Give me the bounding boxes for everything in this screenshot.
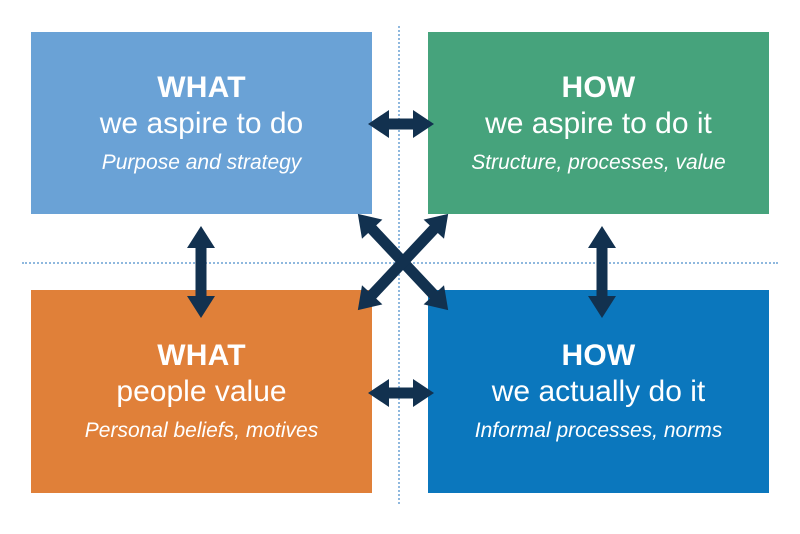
quadrant-kicker: HOW	[562, 339, 636, 373]
quadrant-kicker: WHAT	[157, 339, 246, 373]
dotted-guide-horizontal	[22, 262, 778, 264]
quadrant-actual-how[interactable]: HOW we actually do it Informal processes…	[428, 290, 769, 493]
quadrant-actual-what[interactable]: WHAT people value Personal beliefs, moti…	[31, 290, 372, 493]
quadrant-kicker: WHAT	[157, 71, 246, 105]
quadrant-aspired-what[interactable]: WHAT we aspire to do Purpose and strateg…	[31, 32, 372, 214]
quadrant-aspired-how[interactable]: HOW we aspire to do it Structure, proces…	[428, 32, 769, 214]
double-arrow-horizontal-bottom	[368, 379, 434, 407]
quadrant-caption: Informal processes, norms	[475, 418, 722, 443]
quadrant-kicker: HOW	[562, 71, 636, 105]
double-arrow-horizontal-top	[368, 110, 434, 138]
quadrant-diagram: WHAT we aspire to do Purpose and strateg…	[0, 0, 800, 534]
quadrant-caption: Structure, processes, value	[471, 150, 725, 175]
quadrant-headline: we aspire to do it	[485, 106, 712, 141]
quadrant-caption: Purpose and strategy	[102, 150, 302, 175]
quadrant-caption: Personal beliefs, motives	[85, 418, 318, 443]
dotted-guide-vertical	[398, 26, 400, 504]
quadrant-headline: we aspire to do	[100, 106, 303, 141]
quadrant-headline: people value	[116, 374, 286, 409]
quadrant-headline: we actually do it	[492, 374, 705, 409]
